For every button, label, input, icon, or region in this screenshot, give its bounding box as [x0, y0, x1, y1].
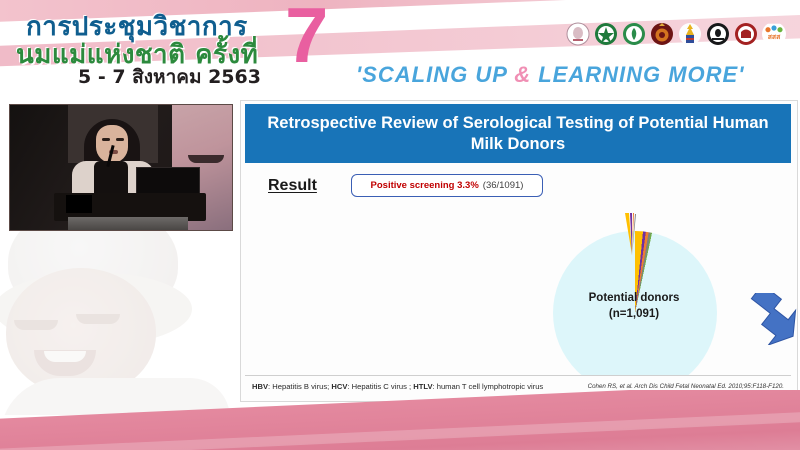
logo-foundation-icon	[706, 22, 730, 46]
video-projected-baby-eye	[188, 155, 224, 163]
background-child-photo	[0, 210, 250, 415]
callout-highlight-text: Positive screening 3.3%	[371, 180, 479, 191]
logo-red-crest-icon	[734, 22, 758, 46]
podium-panel	[66, 195, 92, 213]
tagline-ampersand: &	[514, 62, 531, 87]
logo-health-dept-icon	[622, 22, 646, 46]
tagline-part-2: LEARNING MORE'	[531, 62, 744, 87]
podium-base	[68, 217, 188, 230]
speaker-eye-right	[116, 138, 124, 141]
potential-donors-subtitle: (n=1,091)	[537, 307, 731, 323]
conference-tagline: 'SCALING UP & LEARNING MORE'	[356, 62, 744, 88]
photo-fade-overlay	[0, 210, 250, 415]
logo-royal-crest-icon	[678, 22, 702, 46]
presentation-slide: Retrospective Review of Serological Test…	[240, 100, 798, 402]
result-heading: Result	[268, 177, 317, 195]
logo-thaihealth-icon: สสส	[762, 22, 786, 46]
laptop-on-podium	[136, 167, 200, 195]
logo-ministry-health-icon	[594, 22, 618, 46]
speaker-video-inset[interactable]	[9, 104, 233, 231]
potential-donors-title: Potential donors	[537, 291, 731, 307]
speaker-eye-left	[102, 138, 110, 141]
conference-edition-number: 7	[285, 0, 328, 74]
tagline-part-1: 'SCALING UP	[356, 62, 514, 87]
svg-text:สสส: สสส	[768, 33, 781, 41]
speaker-face	[96, 125, 128, 163]
logo-thai-emblem-icon	[650, 22, 674, 46]
bottom-pink-ribbon	[0, 390, 800, 450]
potential-donors-label: Potential donors (n=1,091)	[537, 291, 731, 322]
source-citation: Cohen RS, et al. Arch Dis Child Fetal Ne…	[588, 383, 784, 390]
conference-date: 5 - 7 สิงหาคม 2563	[78, 62, 261, 92]
conference-banner: การประชุมวิชาการ นมแม่แห่งชาติ ครั้งที่ …	[0, 0, 800, 96]
exploded-positive-slices	[621, 211, 643, 255]
positive-screening-callout: Positive screening 3.3% (36/1091)	[351, 174, 543, 197]
logo-royal-seal-icon	[566, 22, 590, 46]
sponsor-logo-row: สสส	[566, 22, 786, 46]
slide-presentation-screen: การประชุมวิชาการ นมแม่แห่งชาติ ครั้งที่ …	[0, 0, 800, 450]
blue-arrow-icon	[741, 293, 800, 345]
callout-detail-text: (36/1091)	[483, 180, 524, 191]
slide-title: Retrospective Review of Serological Test…	[245, 104, 791, 163]
